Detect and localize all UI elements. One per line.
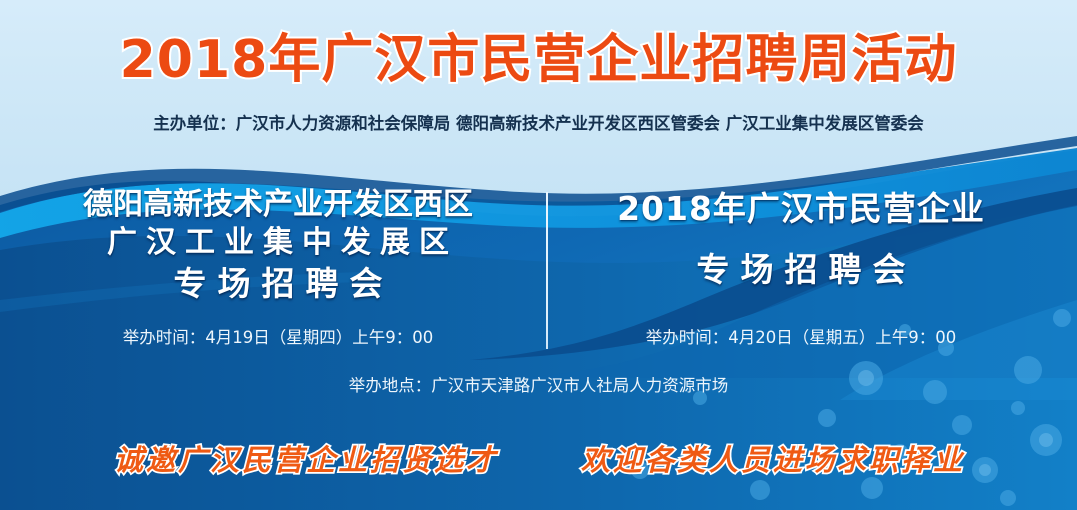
slogan-left: 诚邀广汉民营企业招贤选才 xyxy=(66,438,546,482)
panel-right-line2: 专场招聘会 xyxy=(551,246,1051,294)
organizers-line: 主办单位：广汉市人力资源和社会保障局 德阳高新技术产业开发区西区管委会 广汉工业… xyxy=(0,113,1077,135)
slogan-right: 欢迎各类人员进场求职择业 xyxy=(533,438,1013,482)
panel-left-line1: 德阳高新技术产业开发区西区 xyxy=(28,186,528,224)
panel-left: 德阳高新技术产业开发区西区 广汉工业集中发展区 专场招聘会 xyxy=(28,186,528,306)
recruitment-week-banner: 2018年广汉市民营企业招聘周活动 2018年广汉市民营企业招聘周活动 主办单位… xyxy=(0,0,1077,510)
main-title: 2018年广汉市民营企业招聘周活动 xyxy=(0,32,1077,88)
panel-right: 2018年广汉市民营企业 专场招聘会 xyxy=(551,186,1051,294)
event-time-left: 举办时间：4月19日（星期四）上午9：00 xyxy=(18,327,538,349)
panel-left-line3: 专场招聘会 xyxy=(28,262,528,306)
panel-right-line1: 2018年广汉市民营企业 xyxy=(551,188,1051,230)
event-venue: 举办地点：广汉市天津路广汉市人社局人力资源市场 xyxy=(0,375,1077,397)
panel-divider xyxy=(546,192,548,349)
event-time-right: 举办时间：4月20日（星期五）上午9：00 xyxy=(541,327,1061,349)
panel-left-line2: 广汉工业集中发展区 xyxy=(28,224,528,262)
